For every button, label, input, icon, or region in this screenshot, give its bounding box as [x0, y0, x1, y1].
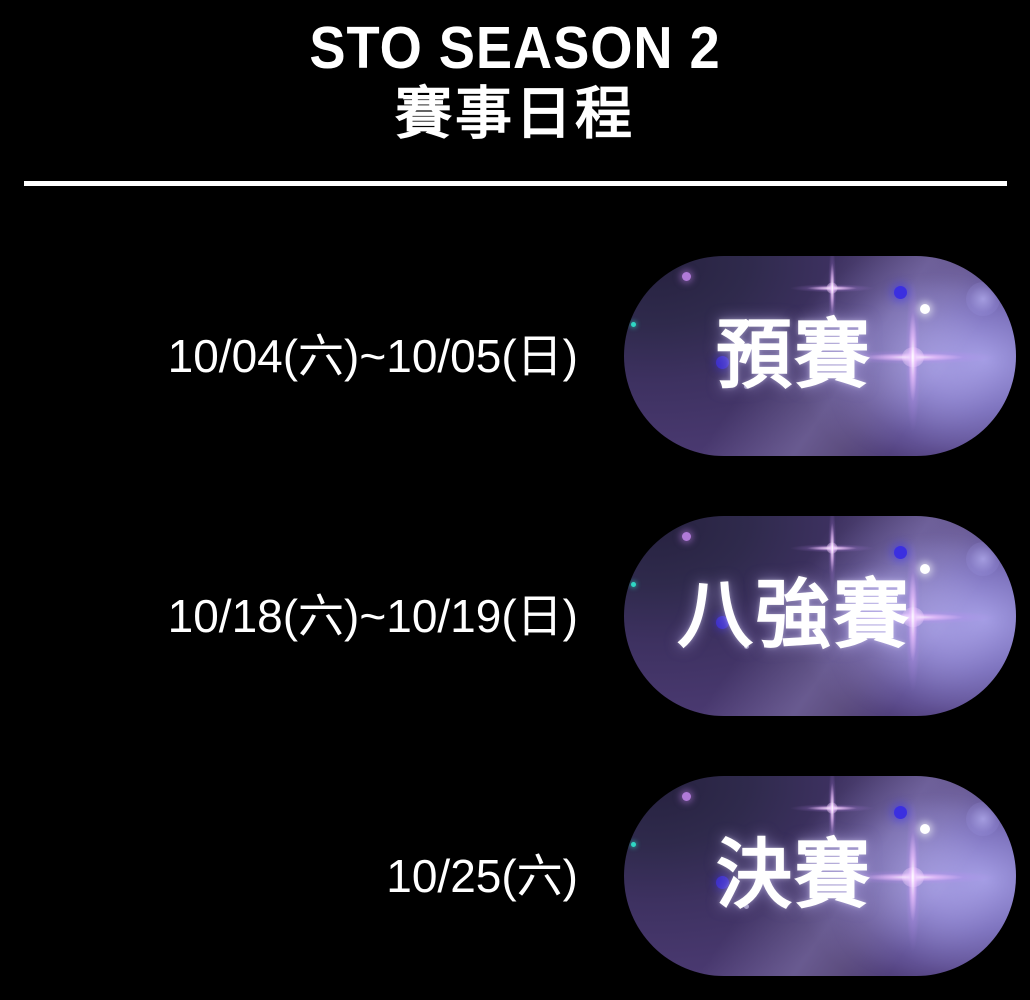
schedule-row: 10/25(六) 決賽: [0, 746, 1030, 1000]
dot-lavender-icon: [966, 542, 1000, 576]
stage-badge-final[interactable]: 決賽: [624, 776, 1016, 976]
schedule-list: 10/04(六)~10/05(日) 預賽 10/18(六)~10/19(日): [0, 226, 1030, 1000]
dot-lavender-icon: [966, 802, 1000, 836]
sparkle-core: [827, 543, 838, 554]
stage-label: 決賽: [624, 838, 1016, 914]
stage-badge-quarterfinal[interactable]: 八強賽: [624, 516, 1016, 716]
dot-purple-icon: [682, 532, 691, 541]
sparkle-core: [827, 283, 838, 294]
page-subtitle: 賽事日程: [0, 82, 1030, 148]
sparkle-core: [827, 803, 838, 814]
dot-blue-icon: [894, 546, 907, 559]
poster-header: STO SEASON 2 賽事日程: [0, 0, 1030, 186]
stage-badge-preliminary[interactable]: 預賽: [624, 256, 1016, 456]
header-divider: [24, 181, 1007, 186]
stage-label: 八強賽: [624, 578, 1016, 654]
stage-label: 預賽: [624, 318, 1016, 394]
schedule-row: 10/18(六)~10/19(日) 八強賽: [0, 486, 1030, 746]
schedule-row: 10/04(六)~10/05(日) 預賽: [0, 226, 1030, 486]
dot-purple-icon: [682, 272, 691, 281]
dot-white-icon: [920, 304, 930, 314]
dot-lavender-icon: [966, 282, 1000, 316]
schedule-date: 10/25(六): [0, 853, 578, 899]
dot-purple-icon: [682, 792, 691, 801]
schedule-date: 10/18(六)~10/19(日): [0, 593, 578, 639]
page-title: STO SEASON 2: [41, 18, 989, 80]
dot-blue-icon: [894, 806, 907, 819]
dot-white-icon: [920, 564, 930, 574]
schedule-date: 10/04(六)~10/05(日): [0, 333, 578, 379]
dot-blue-icon: [894, 286, 907, 299]
dot-white-icon: [920, 824, 930, 834]
